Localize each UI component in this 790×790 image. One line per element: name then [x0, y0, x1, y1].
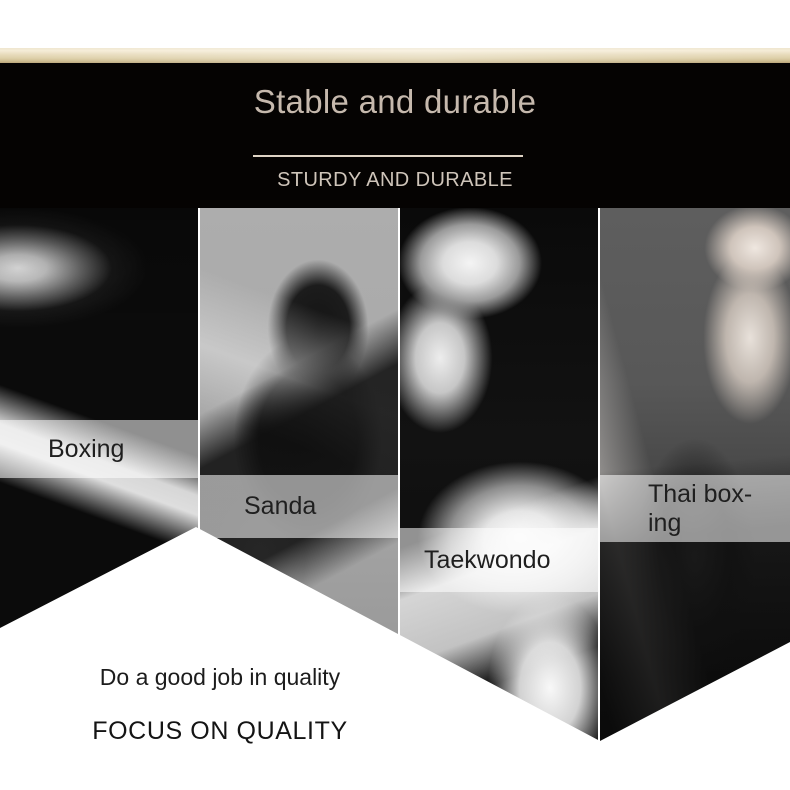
header-divider-rule [253, 155, 523, 157]
label-plate-sanda: Sanda [200, 475, 398, 538]
gold-accent-band [0, 48, 790, 63]
footer-copy: Do a good job in quality FOCUS ON QUALIT… [0, 664, 440, 746]
label-plate-taekwondo: Taekwondo [400, 528, 598, 592]
label-plate-thai-boxing: Thai box- ing [600, 475, 790, 542]
label-plate-boxing: Boxing [0, 420, 198, 478]
header-subtitle: STURDY AND DURABLE [0, 169, 790, 192]
header-title: Stable and durable [0, 83, 790, 121]
footer-tagline: Do a good job in quality [0, 664, 440, 691]
footer-tagline-caps: FOCUS ON QUALITY [0, 717, 440, 746]
header-block: Stable and durable STURDY AND DURABLE [0, 63, 790, 208]
top-white-margin [0, 0, 790, 48]
product-banner: Stable and durable STURDY AND DURABLE Bo… [0, 0, 790, 790]
